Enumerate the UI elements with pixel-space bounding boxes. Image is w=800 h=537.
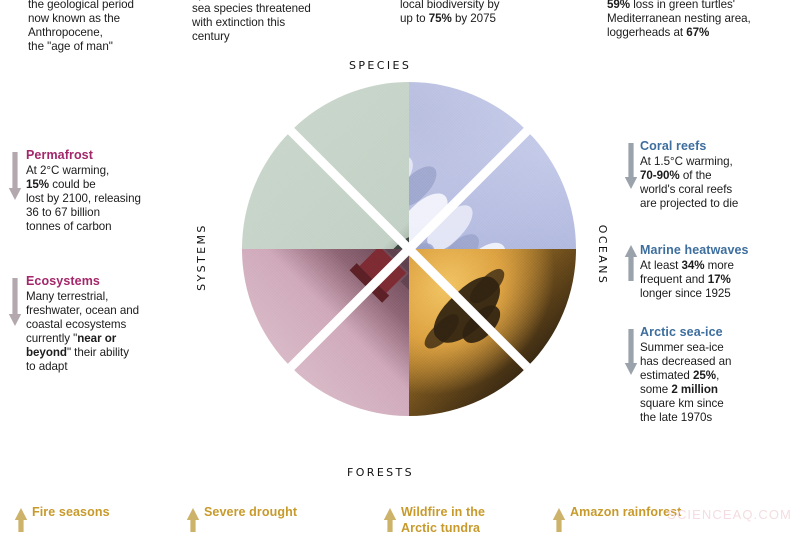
up-arrow-icon-marine-heatwaves [624,245,638,281]
marine-heatwaves-heading: Marine heatwaves [640,243,800,258]
up-arrow-icon-fire-seasons [14,508,28,532]
watermark: SCIENCEAQ.COM [667,507,792,522]
local-biodiversity-text: local biodiversity byup to 75% by 2075 [400,0,580,26]
marine-heatwaves-body: At least 34% morefrequent and 17%longer … [640,259,800,301]
impact-wheel [242,82,576,416]
permafrost-body: At 2°C warming,15% could belost by 2100,… [26,164,158,234]
text-block-ecosystems: Ecosystems Many terrestrial,freshwater, … [26,274,158,375]
fire-seasons-heading: Fire seasons [32,505,182,520]
text-block-species-extinction: up to 54% of land andsea species threate… [192,0,372,44]
wheel-label-systems: Systems [191,223,209,291]
up-arrow-icon-severe-drought [186,508,200,532]
down-arrow-icon-coral-reefs [624,143,638,189]
text-block-local-biodiversity: local biodiversity byup to 75% by 2075 [400,0,580,26]
ecosystems-body: Many terrestrial,freshwater, ocean andco… [26,290,158,375]
text-block-permafrost: Permafrost At 2°C warming,15% could belo… [26,148,158,234]
ecosystems-heading: Ecosystems [26,274,158,289]
text-block-marine-heatwaves: Marine heatwaves At least 34% morefreque… [640,243,800,301]
text-block-wildfire-arctic-tundra: Wildfire in the Arctic tundra [401,505,551,537]
species-extinction-text: up to 54% of land andsea species threate… [192,0,372,44]
text-block-coral-reefs: Coral reefs At 1.5°C warming,70-90% of t… [640,139,800,211]
wheel-label-forests: Forests [347,462,414,480]
arctic-sea-ice-body: Summer sea-icehas decreased anestimated … [640,341,800,426]
anthropocene-text: the geological periodnow known as theAnt… [28,0,178,54]
text-block-fire-seasons: Fire seasons [32,505,182,521]
severe-drought-heading: Severe drought [204,505,374,520]
coral-reefs-heading: Coral reefs [640,139,800,154]
down-arrow-icon-permafrost [8,152,22,200]
coral-reefs-body: At 1.5°C warming,70-90% of theworld's co… [640,155,800,211]
text-block-arctic-sea-ice: Arctic sea-ice Summer sea-icehas decreas… [640,325,800,426]
wheel-label-species: Species [349,55,411,73]
wildfire-arctic-tundra-heading: Wildfire in the [401,505,551,520]
text-block-severe-drought: Severe drought [204,505,374,521]
permafrost-heading: Permafrost [26,148,158,163]
arctic-sea-ice-heading: Arctic sea-ice [640,325,800,340]
text-block-anthropocene: the geological periodnow known as theAnt… [28,0,178,54]
green-turtles-text: 59% loss in green turtles'Mediterranean … [607,0,800,40]
up-arrow-icon-wildfire-arctic-tundra [383,508,397,532]
wheel-label-oceans: Oceans [595,225,613,285]
wildfire-arctic-tundra-heading-line2: Arctic tundra [401,521,551,536]
up-arrow-icon-amazon-rainforest [552,508,566,532]
down-arrow-icon-ecosystems [8,278,22,326]
infographic-canvas: the geological periodnow known as theAnt… [0,0,800,530]
text-block-green-turtles: 59% loss in green turtles'Mediterranean … [607,0,800,40]
down-arrow-icon-arctic-sea-ice [624,329,638,375]
